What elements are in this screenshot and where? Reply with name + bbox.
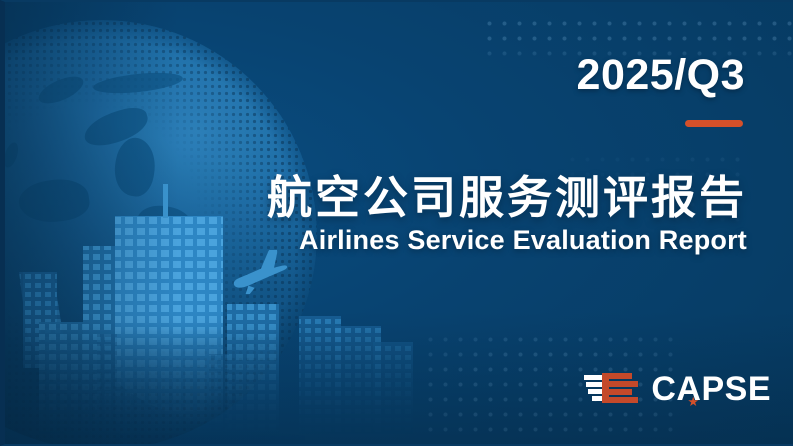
star-icon: ★	[687, 396, 698, 407]
capse-logo: CAPSE ★	[584, 372, 771, 406]
capse-wordmark-text: CAPSE	[651, 370, 771, 408]
quarter-label: 2025/Q3	[577, 54, 745, 97]
page-title-chinese: 航空公司服务测评报告	[267, 174, 747, 223]
page-title-english: Airlines Service Evaluation Report	[267, 226, 747, 256]
title-block: 航空公司服务测评报告 Airlines Service Evaluation R…	[267, 174, 747, 255]
capse-wordmark: CAPSE ★	[651, 372, 771, 406]
globe-continent	[0, 145, 3, 168]
accent-underline-bar	[685, 120, 743, 127]
report-cover-slide: 2025/Q3 航空公司服务测评报告 Airlines Service Eval…	[0, 0, 793, 446]
capse-logo-mark-icon	[584, 373, 640, 406]
